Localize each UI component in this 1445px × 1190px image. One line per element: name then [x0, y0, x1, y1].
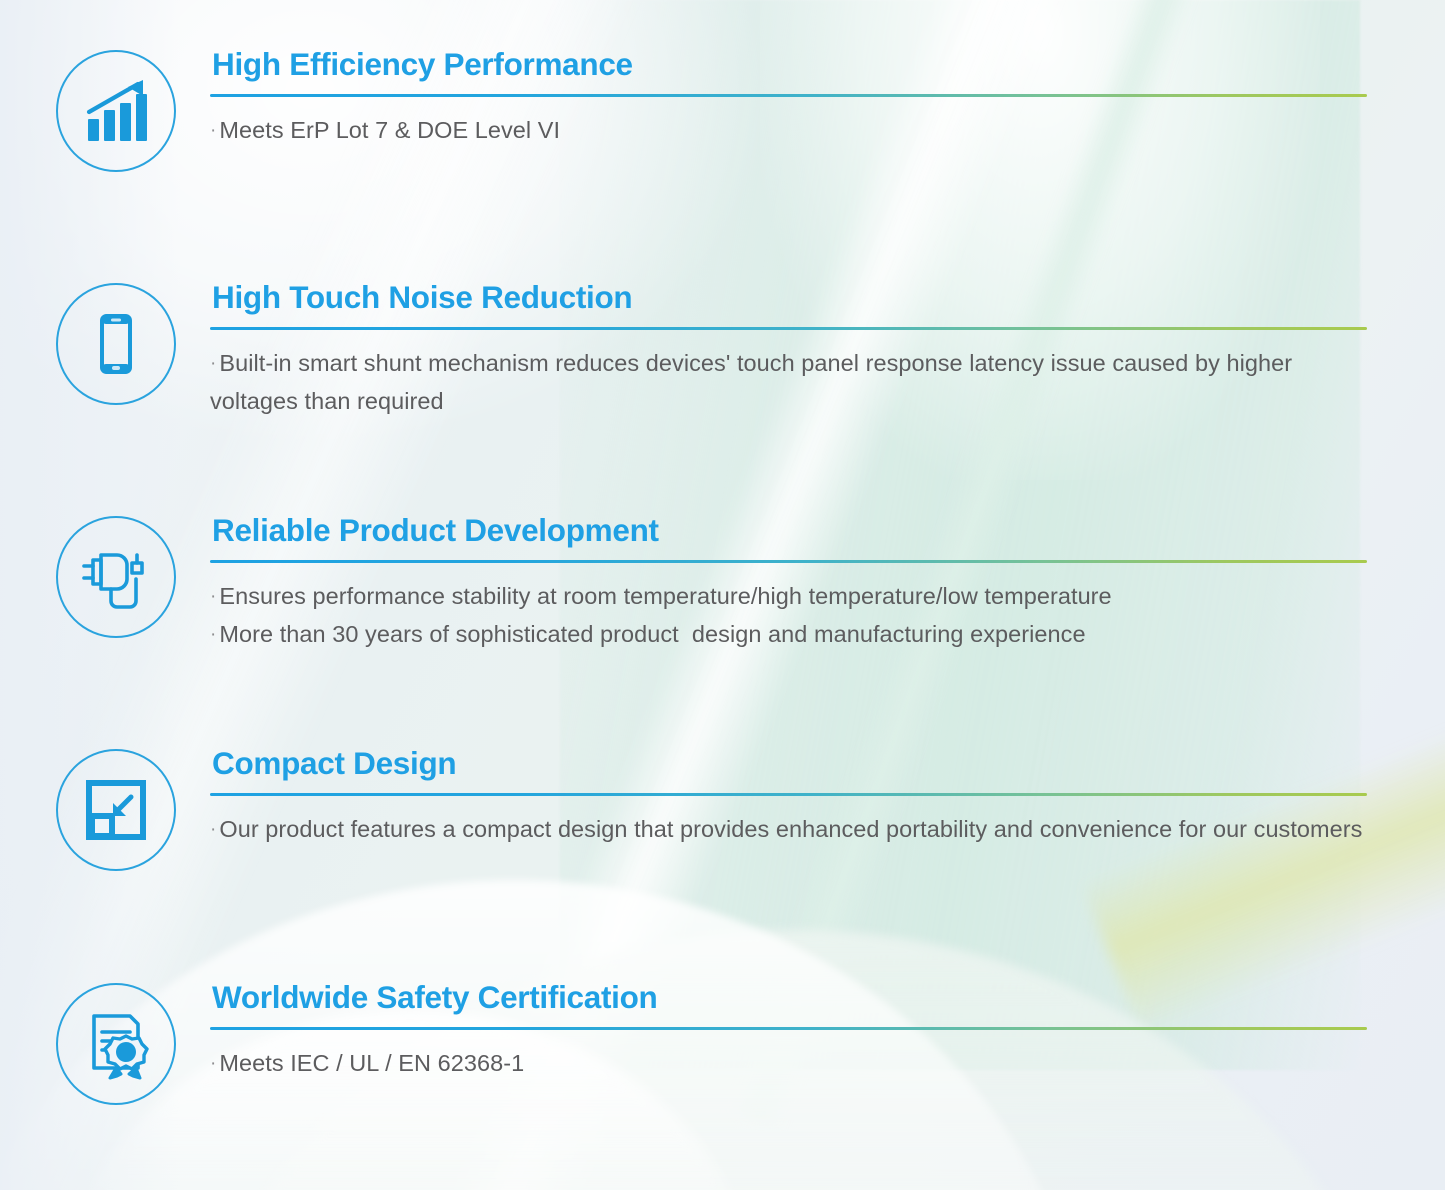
feature-bullet-item: ·Ensures performance stability at room t…: [210, 577, 1367, 615]
feature-title: Reliable Product Development: [210, 514, 1367, 547]
feature-bullet-text: Meets ErP Lot 7 & DOE Level VI: [219, 117, 560, 143]
feature-item-reliable-product-development: Reliable Product Development ·Ensures pe…: [0, 514, 1445, 746]
feature-divider-rule: [210, 94, 1367, 97]
feature-bullet-list: ·Meets IEC / UL / EN 62368-1: [210, 1044, 1367, 1082]
feature-bullet-item: ·Built-in smart shunt mechanism reduces …: [210, 344, 1367, 420]
power-adapter-icon: [56, 516, 176, 638]
compact-resize-icon: [56, 749, 176, 871]
feature-text-block: Compact Design ·Our product features a c…: [210, 747, 1367, 848]
bullet-dot-icon: ·: [210, 624, 219, 645]
feature-bullet-item: ·Our product features a compact design t…: [210, 810, 1367, 848]
feature-item-high-efficiency-performance: High Efficiency Performance ·Meets ErP L…: [0, 48, 1445, 280]
feature-item-high-touch-noise-reduction: High Touch Noise Reduction ·Built-in sma…: [0, 281, 1445, 513]
feature-divider-rule: [210, 793, 1367, 796]
bullet-dot-icon: ·: [210, 1053, 219, 1074]
feature-text-block: Worldwide Safety Certification ·Meets IE…: [210, 981, 1367, 1082]
bar-chart-growth-icon: [56, 50, 176, 172]
feature-bullet-item: ·More than 30 years of sophisticated pro…: [210, 615, 1367, 653]
bullet-dot-icon: ·: [210, 586, 219, 607]
feature-bullet-item: ·Meets IEC / UL / EN 62368-1: [210, 1044, 1367, 1082]
feature-bullet-text: Meets IEC / UL / EN 62368-1: [219, 1050, 524, 1076]
feature-item-compact-design: Compact Design ·Our product features a c…: [0, 747, 1445, 979]
feature-title: High Efficiency Performance: [210, 48, 1367, 81]
bullet-dot-icon: ·: [210, 120, 219, 141]
feature-title: Worldwide Safety Certification: [210, 981, 1367, 1014]
feature-divider-rule: [210, 1027, 1367, 1030]
feature-bullet-list: ·Our product features a compact design t…: [210, 810, 1367, 848]
feature-bullet-text: Our product features a compact design th…: [219, 816, 1362, 842]
feature-divider-rule: [210, 327, 1367, 330]
feature-text-block: Reliable Product Development ·Ensures pe…: [210, 514, 1367, 653]
feature-title: Compact Design: [210, 747, 1367, 780]
feature-bullet-text: More than 30 years of sophisticated prod…: [219, 621, 1085, 647]
bullet-dot-icon: ·: [210, 353, 219, 374]
feature-list: High Efficiency Performance ·Meets ErP L…: [0, 0, 1445, 1190]
feature-bullet-list: ·Ensures performance stability at room t…: [210, 577, 1367, 653]
feature-title: High Touch Noise Reduction: [210, 281, 1367, 314]
feature-highlights-slide: High Efficiency Performance ·Meets ErP L…: [0, 0, 1445, 1190]
feature-bullet-list: ·Built-in smart shunt mechanism reduces …: [210, 344, 1367, 420]
certificate-seal-icon: [56, 983, 176, 1105]
feature-bullet-list: ·Meets ErP Lot 7 & DOE Level VI: [210, 111, 1367, 149]
feature-text-block: High Touch Noise Reduction ·Built-in sma…: [210, 281, 1367, 420]
bullet-dot-icon: ·: [210, 819, 219, 840]
feature-bullet-text: Built-in smart shunt mechanism reduces d…: [210, 350, 1299, 414]
feature-bullet-item: ·Meets ErP Lot 7 & DOE Level VI: [210, 111, 1367, 149]
feature-text-block: High Efficiency Performance ·Meets ErP L…: [210, 48, 1367, 149]
smartphone-icon: [56, 283, 176, 405]
feature-divider-rule: [210, 560, 1367, 563]
feature-item-worldwide-safety-certification: Worldwide Safety Certification ·Meets IE…: [0, 981, 1445, 1190]
feature-bullet-text: Ensures performance stability at room te…: [219, 583, 1111, 609]
